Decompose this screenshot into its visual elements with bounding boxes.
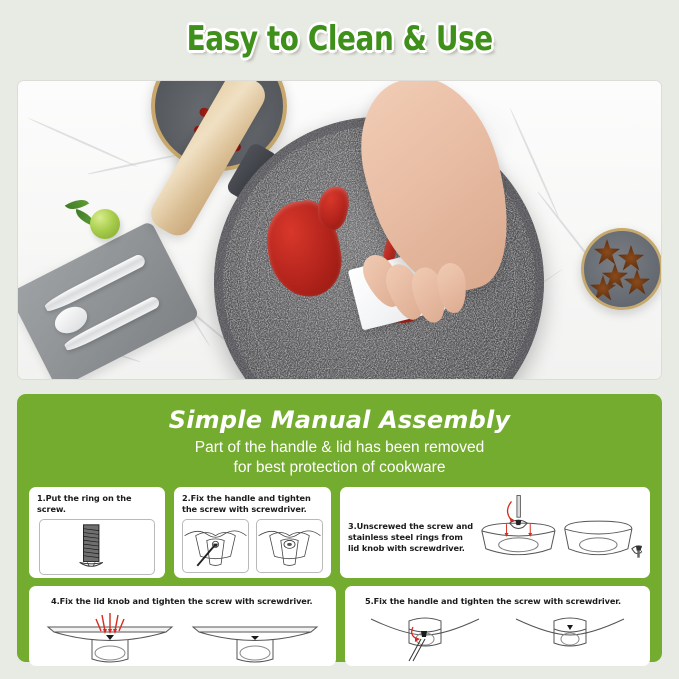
- lime-fruit: [90, 209, 120, 239]
- assembly-step-2: 2.Fix the handle and tighten the screw w…: [174, 487, 331, 578]
- handle-screwdriver-diagram-b: [256, 519, 323, 573]
- page-header: Easy to Clean & Use: [0, 0, 679, 78]
- assembly-steps-row-bottom: 4.Fix the lid knob and tighten the screw…: [29, 586, 650, 666]
- bowl-of-star-anise: [581, 228, 662, 310]
- lid-knob-unscrew-diagram: [474, 493, 642, 571]
- lid-knob-fix-diagram-a: [44, 609, 176, 663]
- star-anise: [594, 239, 620, 265]
- assembly-panel: Simple Manual Assembly Part of the handl…: [17, 394, 662, 662]
- lifestyle-photo: [17, 80, 662, 380]
- assembly-step-5-text: 5.Fix the handle and tighten the screw w…: [353, 592, 642, 607]
- assembly-step-3: 3.Unscrewed the screw and stainless stee…: [340, 487, 650, 578]
- screw-with-ring-diagram: [39, 519, 155, 575]
- page-title: Easy to Clean & Use: [186, 19, 492, 59]
- assembly-step-4: 4.Fix the lid knob and tighten the screw…: [29, 586, 336, 666]
- assembly-step-3-text: 3.Unscrewed the screw and stainless stee…: [348, 511, 474, 554]
- handle-fix-pan-rim-diagram-a: [365, 609, 485, 663]
- star-anise: [618, 245, 644, 271]
- assembly-steps-row-top: 1.Put the ring on the screw. 2.Fix the h…: [29, 487, 650, 578]
- lid-knob-fix-diagram-b: [189, 609, 321, 663]
- assembly-step-1-text: 1.Put the ring on the screw.: [37, 493, 157, 515]
- handle-fix-pan-rim-diagram-b: [510, 609, 630, 663]
- handle-screwdriver-diagram-a: [182, 519, 249, 573]
- assembly-subtitle-line-1: Part of the handle & lid has been remove…: [29, 438, 650, 458]
- assembly-step-4-text: 4.Fix the lid knob and tighten the screw…: [37, 592, 328, 607]
- assembly-subtitle-line-2: for best protection of cookware: [29, 458, 650, 478]
- assembly-step-5: 5.Fix the handle and tighten the screw w…: [345, 586, 650, 666]
- assembly-title: Simple Manual Assembly: [29, 406, 650, 434]
- assembly-step-2-text: 2.Fix the handle and tighten the screw w…: [182, 493, 323, 515]
- assembly-step-1: 1.Put the ring on the screw.: [29, 487, 165, 578]
